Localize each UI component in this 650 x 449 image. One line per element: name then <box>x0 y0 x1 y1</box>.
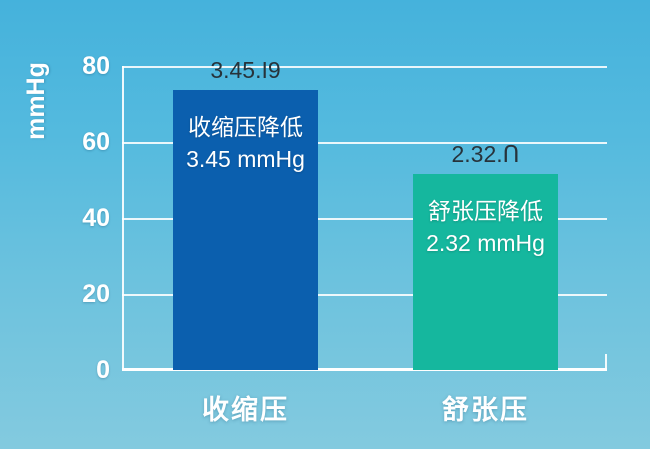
y-tick-label-20: 20 <box>52 282 110 307</box>
y-tick-label-40: 40 <box>52 206 110 231</box>
bar-annotation-diastolic-line1: 舒张压降低 <box>428 196 543 228</box>
bar-annotation-diastolic-line2: 2.32 mmHg <box>426 228 545 260</box>
bar-value-label-systolic: 3.45.I9 <box>210 57 280 84</box>
category-label-diastolic: 舒张压 <box>413 388 558 427</box>
y-tick-label-80: 80 <box>52 54 110 79</box>
gridline-80 <box>122 66 607 68</box>
bar-value-label-diastolic: 2.32.Ո <box>452 141 520 168</box>
bar-annotation-systolic-line1: 收缩压降低 <box>188 112 303 144</box>
bar-diastolic[interactable]: 2.32.Ո 舒张压降低 2.32 mmHg <box>413 174 558 370</box>
bar-systolic[interactable]: 3.45.I9 收缩压降低 3.45 mmHg <box>173 90 318 370</box>
category-label-systolic: 收缩压 <box>173 388 318 427</box>
y-axis-tick-labels: 80 60 40 20 0 <box>48 0 110 449</box>
plot-area: 3.45.I9 收缩压降低 3.45 mmHg 2.32.Ո 舒张压降低 2.3… <box>122 66 607 370</box>
bar-chart: mmHg 80 60 40 20 0 3.45.I9 收缩压降低 3.45 mm… <box>0 0 650 449</box>
y-tick-label-0: 0 <box>52 358 110 383</box>
bar-annotation-systolic-line2: 3.45 mmHg <box>186 144 305 176</box>
y-tick-label-60: 60 <box>52 130 110 155</box>
y-axis-title: mmHg <box>22 36 51 166</box>
